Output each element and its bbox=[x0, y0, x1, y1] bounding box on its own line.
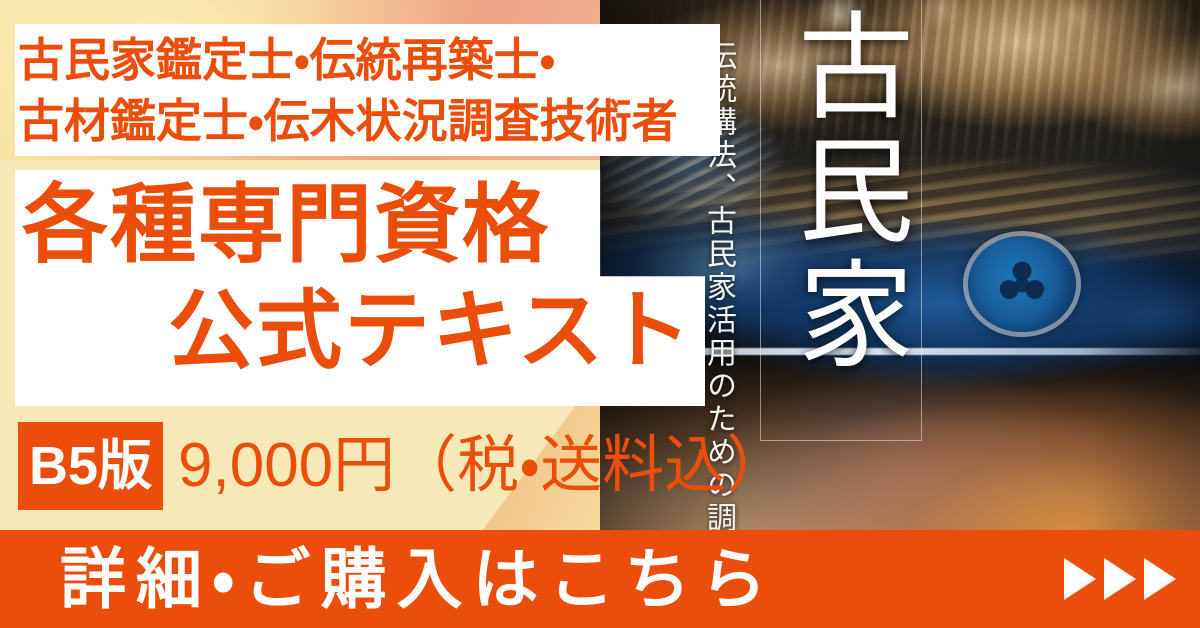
kicker-line-1: 古民家鑑定士・伝統再築士・ bbox=[18, 30, 718, 91]
cta-bar[interactable]: 詳細・ご購入はこちら bbox=[0, 530, 1200, 628]
book-cover-title: 古民家 bbox=[770, 6, 910, 378]
cta-label: 詳細・ご購入はこちら bbox=[60, 546, 776, 612]
kicker-line-2: 古材鑑定士・伝木状況調査技術者 bbox=[18, 91, 718, 152]
promo-banner: 古民家 伝統構法、古民家活用のための調査と再生の 古民家鑑定士・伝統再築士・ 古… bbox=[0, 0, 1200, 628]
qualification-kicker: 古民家鑑定士・伝統再築士・ 古材鑑定士・伝木状況調査技術者 bbox=[18, 30, 718, 151]
chevron-right-icon bbox=[1064, 558, 1096, 600]
format-badge: B5版 bbox=[18, 422, 163, 510]
chevron-right-icon bbox=[1144, 558, 1176, 600]
price-text: 9,000円（税・送料込） bbox=[178, 424, 788, 508]
cta-arrow-group bbox=[1064, 558, 1176, 600]
chevron-right-icon bbox=[1104, 558, 1136, 600]
headline-line-2: 公式テキスト bbox=[168, 288, 693, 374]
headline-line-1: 各種専門資格 bbox=[22, 182, 550, 268]
